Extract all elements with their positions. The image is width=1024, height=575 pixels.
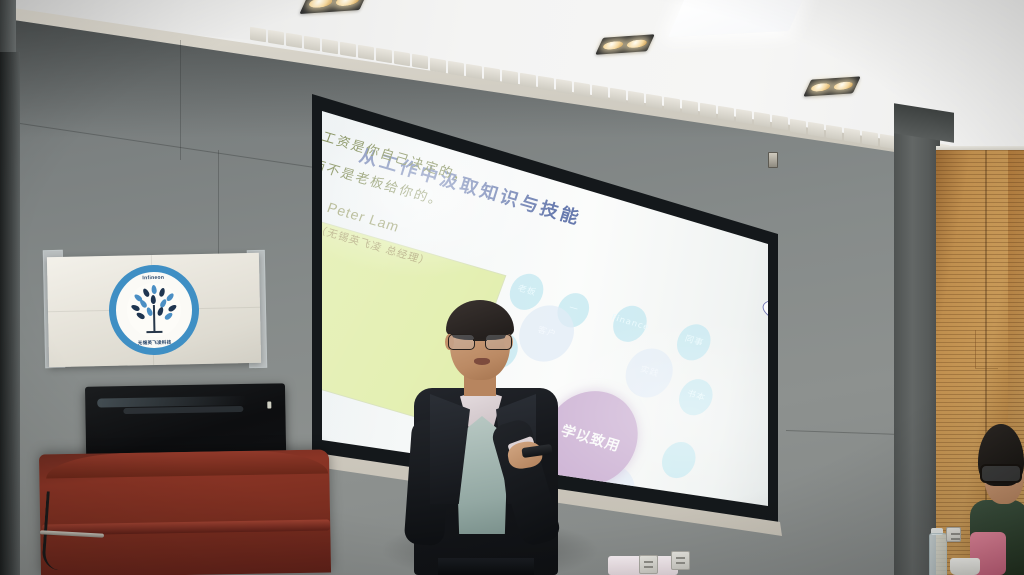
mindmap-node: [657, 438, 701, 482]
emblem-bottom-text: 无锡英飞凌科技: [117, 339, 193, 347]
screen-control-sensor-icon[interactable]: [768, 152, 778, 168]
wood-wall-marking: [975, 330, 998, 369]
mindmap-node: 书本: [674, 375, 718, 419]
wall-panel-seam: [180, 40, 181, 160]
power-outlet[interactable]: [946, 527, 961, 542]
speaker-trousers: [438, 558, 534, 575]
speaker-person: [400, 290, 570, 575]
mindmap-node: 同事: [672, 320, 716, 364]
door-jamb: [0, 52, 20, 575]
power-outlet[interactable]: [671, 551, 690, 570]
eyeglasses-icon: [980, 464, 1022, 483]
tv-power-led-icon: [267, 402, 271, 409]
emblem-top-text: Infineon: [115, 274, 191, 282]
company-emblem-icon: Infineon 无锡英飞凌科技: [108, 264, 200, 356]
mindmap-node: Finance: [608, 302, 652, 346]
structural-column: [894, 118, 940, 575]
eyeglasses-icon: [448, 334, 512, 349]
wall-panel-seam: [218, 150, 219, 260]
speaker-mouth: [474, 358, 490, 365]
wall-banner: Infineon 无锡英飞凌科技: [47, 253, 261, 367]
power-outlet[interactable]: [639, 555, 658, 574]
water-bottle: [929, 533, 947, 575]
paper-cup: [950, 558, 980, 575]
conference-room-photo: 从工作中汲取知识与技能 infineon 工资是你自己决定的， 而不是老板给你的…: [0, 0, 1024, 575]
audience-member: [964, 424, 1024, 575]
mindmap-node: 实践: [619, 343, 680, 403]
